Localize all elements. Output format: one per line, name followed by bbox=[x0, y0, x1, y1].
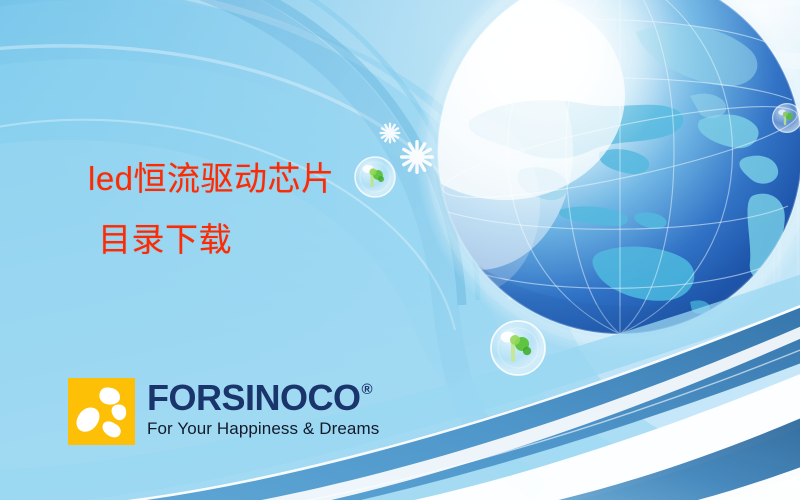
brand-wordmark: FORSINOCO ® For Your Happiness & Dreams bbox=[147, 378, 379, 439]
brand-logo-lockup[interactable]: FORSINOCO ® For Your Happiness & Dreams bbox=[68, 378, 379, 445]
four-petal-pinwheel-icon bbox=[68, 378, 135, 445]
brand-name: FORSINOCO bbox=[147, 382, 361, 414]
banner-canvas: led恒流驱动芯片 目录下载 FORSINOCO ® bbox=[0, 0, 800, 500]
brand-tagline: For Your Happiness & Dreams bbox=[147, 419, 379, 439]
registered-trademark-icon: ® bbox=[362, 383, 373, 397]
